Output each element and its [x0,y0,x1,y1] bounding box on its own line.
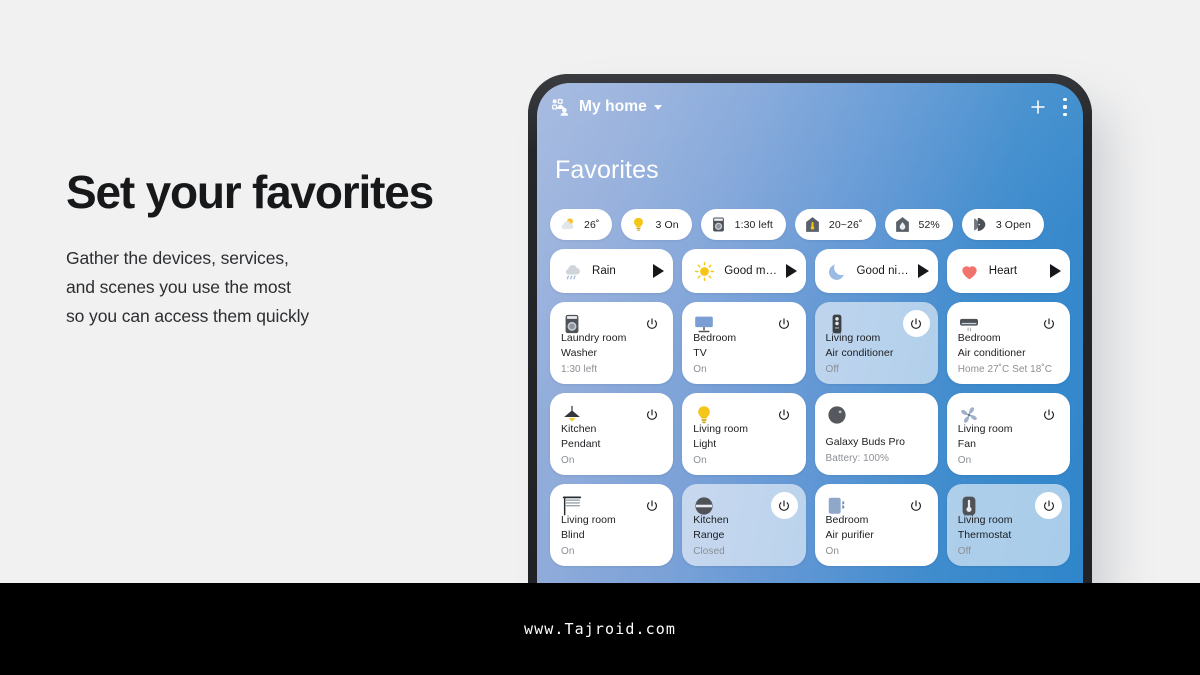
chevron-down-icon[interactable] [654,105,662,110]
status-chip-label: 3 On [655,219,678,231]
status-chip-label: 3 Open [996,219,1031,231]
device-room: Bedroom [958,331,1062,347]
marketing-subcopy: Gather the devices, services, and scenes… [66,244,486,331]
phone-screen: My home Favorites [537,83,1083,594]
device-name: Washer [561,346,665,362]
status-chip-humidity[interactable]: 52% [885,209,953,240]
scene-card-good-morning[interactable]: Good morning [682,249,805,293]
device-status: On [826,544,930,559]
play-icon[interactable] [653,264,664,278]
device-room: Kitchen [561,422,665,438]
status-chip-row: 26˚ 3 On [550,209,1070,240]
device-card-light[interactable]: Living room Light On [682,393,805,475]
play-icon[interactable] [786,264,797,278]
washer-icon [710,216,727,233]
device-room: Kitchen [693,513,797,529]
device-card-text: Bedroom TV On [693,331,797,377]
device-room: Bedroom [826,513,930,529]
device-card-text: Living room Air conditioner Off [826,331,930,377]
device-status: Off [958,544,1062,559]
device-card-thermostat[interactable]: Living room Thermostat Off [947,484,1070,566]
device-name: Pendant [561,437,665,453]
subcopy-line-1: Gather the devices, services, [66,244,486,273]
device-room: Living room [826,331,930,347]
heart-icon [959,261,980,282]
device-room: Laundry room [561,331,665,347]
device-card-washer[interactable]: Laundry room Washer 1:30 left [550,302,673,384]
marketing-copy: Set your favorites Gather the devices, s… [66,168,486,331]
status-chip-label: 1:30 left [735,219,773,231]
device-status: On [561,453,665,468]
phone-device-frame: My home Favorites [528,74,1092,594]
device-status: Closed [693,544,797,559]
sun-icon [694,261,715,282]
device-card-text: Kitchen Pendant On [561,422,665,468]
scene-card-rain[interactable]: Rain [550,249,673,293]
device-card-air-conditioner-bedroom[interactable]: Bedroom Air conditioner Home 27˚C Set 18… [947,302,1070,384]
scene-card-heart[interactable]: Heart [947,249,1070,293]
device-card-air-conditioner-living-room[interactable]: Living room Air conditioner Off [815,302,938,384]
device-name: TV [693,346,797,362]
device-status: 1:30 left [561,362,665,377]
device-room: Living room [958,513,1062,529]
scene-label: Good night [857,265,912,277]
device-name: Air conditioner [826,346,930,362]
subcopy-line-2: and scenes you use the most [66,273,486,302]
thermometer-home-icon [804,216,821,233]
device-room: Bedroom [693,331,797,347]
app-bar: My home [537,83,1083,131]
device-status: On [693,453,797,468]
watermark-text: www.Tajroid.com [524,620,676,638]
device-card-text: Living room Blind On [561,513,665,559]
moon-icon [827,261,848,282]
device-status: On [958,453,1062,468]
device-room: Living room [561,513,665,529]
device-status: Battery: 100% [826,451,930,466]
status-chip-label: 20~26˚ [829,219,863,231]
lightbulb-icon [630,216,647,233]
scene-label: Heart [989,265,1044,277]
scene-label: Rain [592,265,647,277]
subcopy-line-3: so you can access them quickly [66,302,486,331]
status-chip-lights[interactable]: 3 On [621,209,691,240]
scene-card-good-night[interactable]: Good night [815,249,938,293]
device-card-text: Bedroom Air conditioner Home 27˚C Set 18… [958,331,1062,377]
device-name: Thermostat [958,528,1062,544]
more-vertical-icon[interactable] [1063,98,1067,116]
device-card-text: Living room Light On [693,422,797,468]
status-chip-washer[interactable]: 1:30 left [701,209,786,240]
status-chip-temperature[interactable]: 20~26˚ [795,209,876,240]
scene-label: Good morning [724,265,779,277]
device-name: Light [693,437,797,453]
play-icon[interactable] [918,264,929,278]
device-name: Fan [958,437,1062,453]
scene-row: Rain Good morning [550,249,1070,293]
device-card-text: Galaxy Buds Pro Battery: 100% [826,435,930,466]
device-name: Blind [561,528,665,544]
device-status: On [693,362,797,377]
device-name: Galaxy Buds Pro [826,435,930,451]
rain-cloud-icon [562,261,583,282]
device-status: Off [826,362,930,377]
device-room: Living room [693,422,797,438]
device-name: Range [693,528,797,544]
status-chip-doors[interactable]: 3 Open [962,209,1044,240]
device-card-pendant[interactable]: Kitchen Pendant On [550,393,673,475]
device-card-text: Bedroom Air purifier On [826,513,930,559]
status-chip-weather[interactable]: 26˚ [550,209,612,240]
screenshot-root: Set your favorites Gather the devices, s… [0,0,1200,675]
device-card-text: Living room Thermostat Off [958,513,1062,559]
device-status: On [561,544,665,559]
device-status: Home 27˚C Set 18˚C [958,362,1062,377]
device-grid: Laundry room Washer 1:30 left [550,302,1070,566]
home-name-label[interactable]: My home [579,98,647,116]
device-card-galaxy-buds-pro[interactable]: Galaxy Buds Pro Battery: 100% [815,393,938,475]
status-chip-label: 26˚ [584,219,599,231]
device-card-blind[interactable]: Living room Blind On [550,484,673,566]
humidity-home-icon [894,216,911,233]
watermark-band: www.Tajroid.com [0,583,1200,675]
device-room: Living room [958,422,1062,438]
device-name: Air purifier [826,528,930,544]
device-card-tv[interactable]: Bedroom TV On [682,302,805,384]
earbuds-case-icon [826,404,848,426]
device-card-air-purifier[interactable]: Bedroom Air purifier On [815,484,938,566]
play-icon[interactable] [1050,264,1061,278]
home-group-icon [552,98,570,116]
weather-partly-cloudy-icon [559,216,576,233]
device-card-text: Kitchen Range Closed [693,513,797,559]
door-icon [971,216,988,233]
status-chip-label: 52% [919,219,940,231]
plus-icon[interactable] [1027,96,1049,118]
device-card-fan[interactable]: Living room Fan On [947,393,1070,475]
favorites-content: 26˚ 3 On [537,185,1083,566]
favorites-section-title: Favorites [537,131,1083,185]
device-card-text: Living room Fan On [958,422,1062,468]
page-title: Set your favorites [66,168,486,218]
device-name: Air conditioner [958,346,1062,362]
device-card-range[interactable]: Kitchen Range Closed [682,484,805,566]
device-card-text: Laundry room Washer 1:30 left [561,331,665,377]
